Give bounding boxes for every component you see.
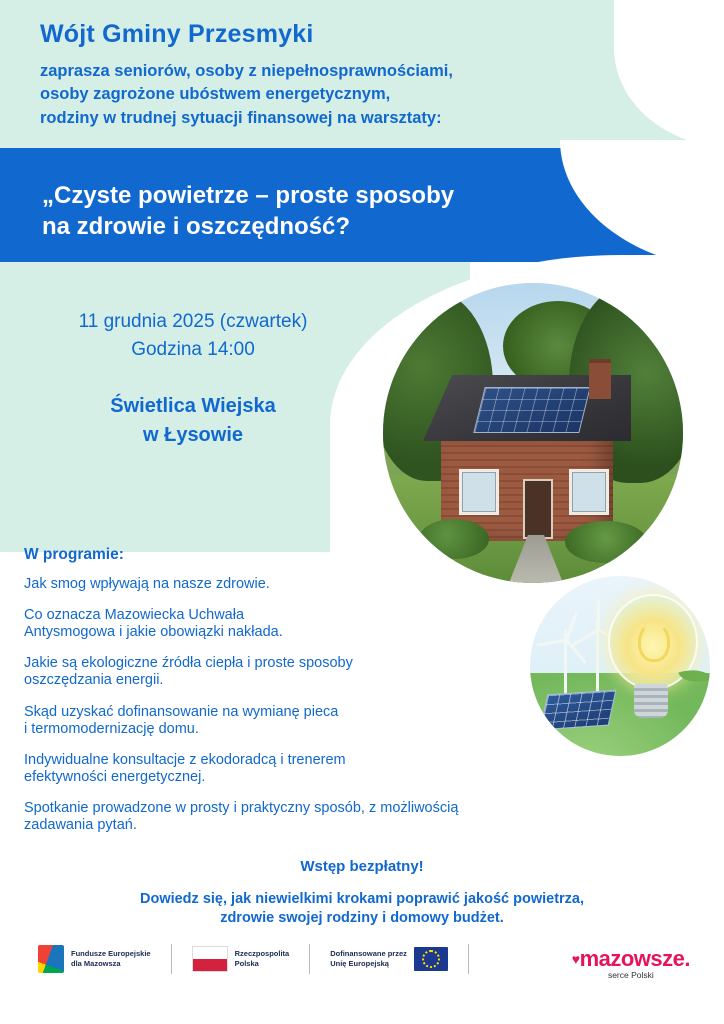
header-subtitle-line-2: osoby zagrożone ubóstwem energetycznym,: [40, 83, 640, 106]
closing-message-line-2: zdrowie swojej rodziny i domowy budżet.: [0, 909, 724, 928]
turbine-blade: [597, 600, 600, 630]
logo-republic-of-poland: Rzeczpospolita Polska: [192, 946, 290, 972]
logo-poland-label: Rzeczpospolita Polska: [235, 949, 290, 969]
logo-label-line-2: dla Mazowsza: [71, 959, 151, 969]
program-item: Indywidualne konsultacje z ekodoradcą i …: [24, 752, 644, 786]
poland-flag-icon: [192, 946, 228, 972]
photo-bush-right: [565, 521, 647, 563]
house-with-solar-panels-photo: [383, 283, 683, 583]
turbine-blade: [537, 639, 567, 647]
program-item: Spotkanie prowadzone w prosty i praktycz…: [24, 800, 644, 834]
photo-chimney: [589, 359, 611, 399]
closing-message-line-1: Dowiedz się, jak niewielkimi krokami pop…: [0, 890, 724, 909]
closing-message: Dowiedz się, jak niewielkimi krokami pop…: [0, 890, 724, 928]
mazowsze-wordmark: ♥mazowsze.: [572, 946, 690, 972]
logo-eu-funds: Fundusze Europejskie dla Mazowsza: [38, 945, 151, 973]
logo-label-line-1: Dofinansowane przez: [330, 949, 407, 959]
eu-flag-icon: [414, 947, 448, 971]
heart-icon: ♥: [572, 951, 580, 967]
event-location-line-2: w Łysowie: [28, 421, 358, 450]
logo-funded-by-eu: Dofinansowane przez Unię Europejską: [330, 947, 448, 971]
logo-eu-funds-label: Fundusze Europejskie dla Mazowsza: [71, 949, 151, 969]
footer-divider: [171, 944, 172, 974]
footer-divider: [309, 944, 310, 974]
lightbulb-filament: [638, 622, 670, 662]
workshop-title-line-1: „Czyste powietrze – proste sposoby: [42, 180, 642, 211]
event-location: Świetlica Wiejska w Łysowie: [28, 392, 358, 450]
header-subtitle: zaprasza seniorów, osoby z niepełnospraw…: [40, 60, 640, 130]
workshop-title: „Czyste powietrze – proste sposoby na zd…: [42, 180, 642, 242]
eu-stars-icon: [414, 947, 448, 971]
poster-canvas: Wójt Gminy Przesmyki zaprasza seniorów, …: [0, 0, 724, 1024]
green-energy-lightbulb-illustration: [530, 576, 710, 756]
event-datetime: 11 grudnia 2025 (czwartek) Godzina 14:00: [28, 308, 358, 363]
event-time: Godzina 14:00: [28, 336, 358, 364]
program-item: Jak smog wpływają na nasze zdrowie.: [24, 576, 644, 593]
page-title: Wójt Gminy Przesmyki: [40, 20, 314, 49]
program-item-line: Spotkanie prowadzone w prosty i praktycz…: [24, 800, 644, 817]
mazowsze-word-text: mazowsze.: [580, 946, 690, 971]
solar-panel-icon: [540, 690, 617, 731]
photo-window-right: [569, 469, 609, 515]
logo-label-line-1: Fundusze Europejskie: [71, 949, 151, 959]
workshop-title-line-2: na zdrowie i oszczędność?: [42, 211, 642, 242]
photo-window-left: [459, 469, 499, 515]
free-entry-note: Wstęp bezpłatny!: [0, 858, 724, 875]
event-date: 11 grudnia 2025 (czwartek): [28, 308, 358, 336]
mazowsze-brand-logo: ♥mazowsze. serce Polski: [572, 946, 690, 980]
photo-door: [523, 479, 553, 539]
footer-logo-bar: Fundusze Europejskie dla Mazowsza Rzeczp…: [0, 940, 724, 1024]
program-heading: W programie:: [24, 546, 124, 564]
turbine-blade: [565, 611, 578, 640]
program-item-line: zadawania pytań.: [24, 817, 644, 834]
logo-eu-funding-label: Dofinansowane przez Unię Europejską: [330, 949, 407, 969]
header-subtitle-line-3: rodziny w trudnej sytuacji finansowej na…: [40, 107, 640, 130]
footer-divider: [468, 944, 469, 974]
lightbulb-base: [634, 684, 668, 718]
program-item-line: efektywności energetycznej.: [24, 769, 644, 786]
photo-bush-left: [419, 519, 489, 559]
footer-logos: Fundusze Europejskie dla Mazowsza Rzeczp…: [38, 944, 475, 974]
logo-label-line-2: Unię Europejską: [330, 959, 407, 969]
eu-funds-flag-icon: [38, 945, 64, 973]
header-subtitle-line-1: zaprasza seniorów, osoby z niepełnospraw…: [40, 60, 640, 83]
event-location-line-1: Świetlica Wiejska: [28, 392, 358, 421]
logo-label-line-2: Polska: [235, 959, 290, 969]
logo-label-line-1: Rzeczpospolita: [235, 949, 290, 959]
photo-solar-panel: [473, 387, 590, 433]
program-item-line: Jak smog wpływają na nasze zdrowie.: [24, 576, 644, 593]
